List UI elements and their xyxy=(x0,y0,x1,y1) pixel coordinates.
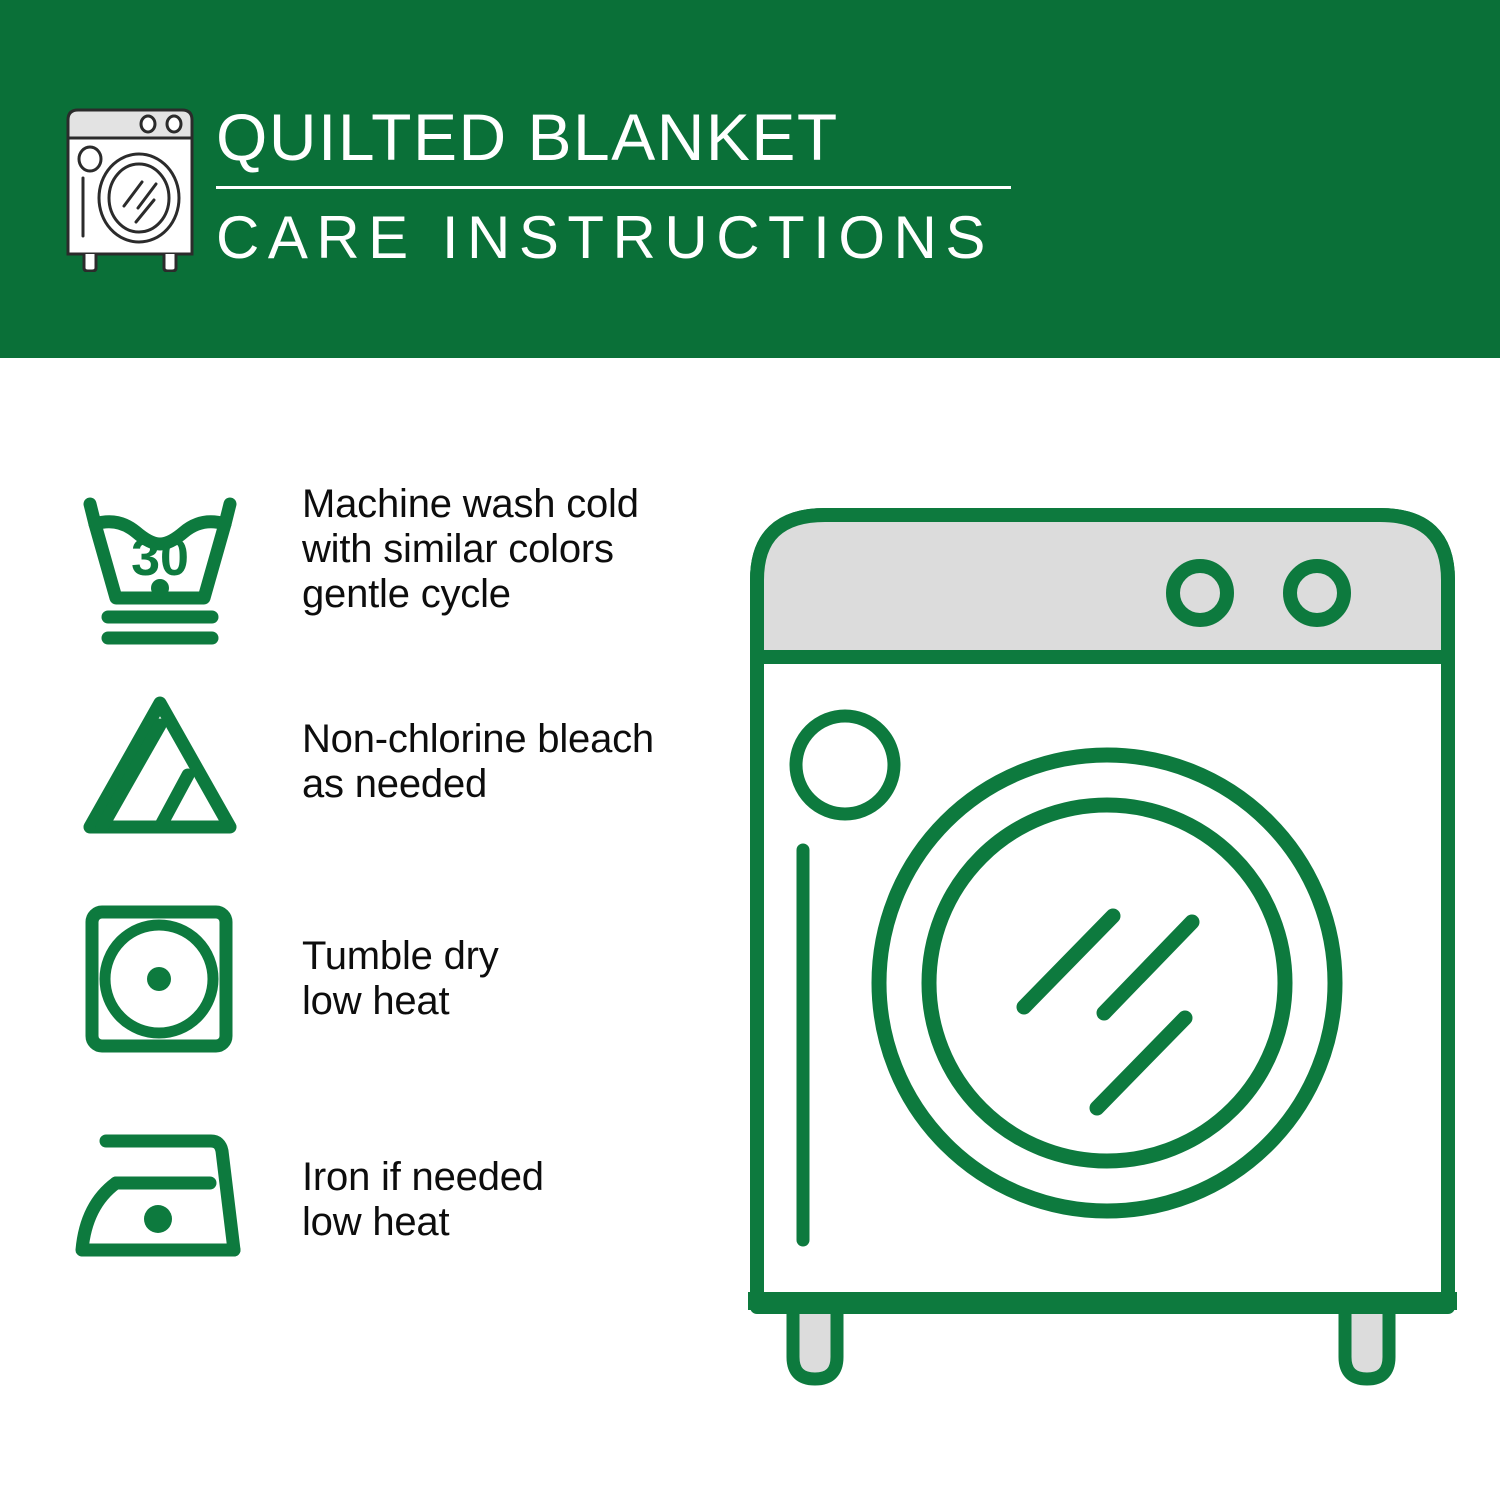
care-row-bleach: Non-chlorine bleach as needed xyxy=(0,685,720,900)
care-label-iron: Iron if needed low heat xyxy=(302,1155,544,1245)
care-row-iron: Iron if needed low heat xyxy=(0,1115,720,1330)
washing-machine-icon xyxy=(62,104,198,272)
care-label-tumble-dry: Tumble dry low heat xyxy=(302,934,499,1024)
bleach-triangle-icon xyxy=(72,685,248,861)
front-load-washing-machine-illustration xyxy=(745,495,1460,1420)
care-instruction-list: 30 Machine wash cold with similar colors… xyxy=(0,470,720,1330)
care-label-line: gentle cycle xyxy=(302,572,639,617)
care-row-wash: 30 Machine wash cold with similar colors… xyxy=(0,470,720,685)
title-divider xyxy=(216,186,1011,189)
care-label-bleach: Non-chlorine bleach as needed xyxy=(302,717,654,807)
detergent-dot xyxy=(796,716,894,814)
care-label-line: with similar colors xyxy=(302,527,639,572)
care-label-line: Machine wash cold xyxy=(302,482,639,527)
care-label-line: Iron if needed xyxy=(302,1155,544,1200)
care-label-wash: Machine wash cold with similar colors ge… xyxy=(302,482,639,617)
header-band: QUILTED BLANKET CARE INSTRUCTIONS xyxy=(0,0,1500,358)
tumble-dry-low-icon xyxy=(80,900,238,1058)
care-instructions-infographic: QUILTED BLANKET CARE INSTRUCTIONS 30 xyxy=(0,0,1500,1500)
wash-temperature-value: 30 xyxy=(131,529,189,587)
care-row-tumble-dry: Tumble dry low heat xyxy=(0,900,720,1115)
care-label-line: low heat xyxy=(302,1200,544,1245)
iron-low-heat-icon xyxy=(68,1125,254,1275)
care-label-line: as needed xyxy=(302,762,654,807)
care-label-line: Tumble dry xyxy=(302,934,499,979)
knob-right xyxy=(1290,566,1344,620)
page-title: QUILTED BLANKET xyxy=(216,98,1016,176)
care-label-line: low heat xyxy=(302,979,499,1024)
wash-tub-30-gentle-icon: 30 xyxy=(72,470,248,646)
page-subtitle: CARE INSTRUCTIONS xyxy=(216,203,1016,273)
knob-left xyxy=(1173,566,1227,620)
header-titles: QUILTED BLANKET CARE INSTRUCTIONS xyxy=(216,98,1016,273)
care-label-line: Non-chlorine bleach xyxy=(302,717,654,762)
